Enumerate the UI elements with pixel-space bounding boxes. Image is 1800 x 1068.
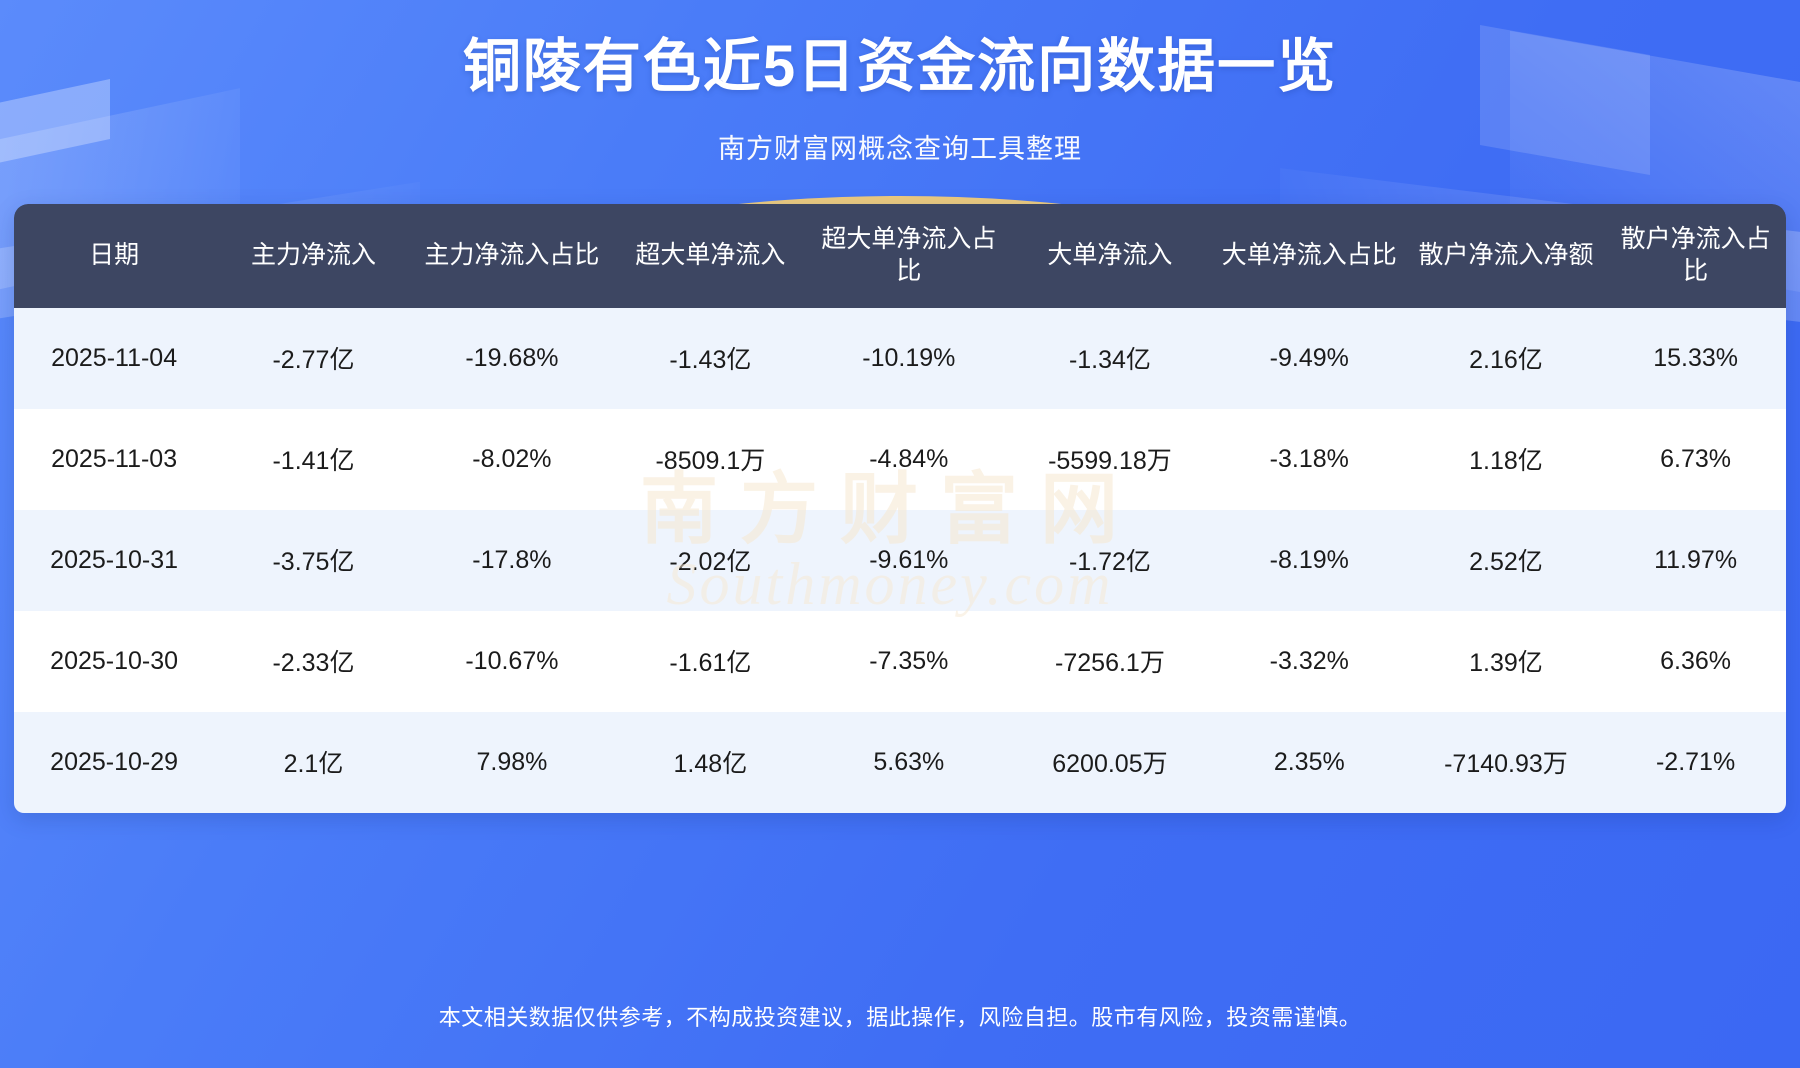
page-subtitle: 南方财富网概念查询工具整理 (0, 127, 1800, 166)
cell-retail-net: 1.18亿 (1407, 409, 1605, 510)
cell-xl-pct: -7.35% (810, 611, 1008, 712)
cell-lg-pct: 2.35% (1212, 712, 1407, 813)
cell-main-net: -2.77亿 (214, 308, 412, 409)
cell-retail-pct: -2.71% (1605, 712, 1786, 813)
cell-xl-net: -1.43亿 (611, 308, 809, 409)
cell-date: 2025-11-04 (14, 308, 214, 409)
table-header-row: 日期 主力净流入 主力净流入占比 超大单净流入 超大单净流入占比 大单净流入 大… (14, 204, 1786, 308)
cell-lg-pct: -9.49% (1212, 308, 1407, 409)
header: 铜陵有色近5日资金流向数据一览 南方财富网概念查询工具整理 (0, 0, 1800, 166)
cell-xl-pct: -10.19% (810, 308, 1008, 409)
cell-lg-net: -5599.18万 (1008, 409, 1212, 510)
cell-lg-net: 6200.05万 (1008, 712, 1212, 813)
cell-lg-pct: -8.19% (1212, 510, 1407, 611)
cell-retail-net: 1.39亿 (1407, 611, 1605, 712)
cell-date: 2025-10-31 (14, 510, 214, 611)
data-table-card: 日期 主力净流入 主力净流入占比 超大单净流入 超大单净流入占比 大单净流入 大… (14, 204, 1786, 813)
cell-lg-net: -1.34亿 (1008, 308, 1212, 409)
column-header-retail-pct: 散户净流入占比 (1605, 204, 1786, 308)
cell-retail-net: 2.52亿 (1407, 510, 1605, 611)
column-header-xl-net: 超大单净流入 (611, 204, 809, 308)
table-row: 2025-11-04 -2.77亿 -19.68% -1.43亿 -10.19%… (14, 308, 1786, 409)
cell-xl-net: 1.48亿 (611, 712, 809, 813)
table-row: 2025-10-31 -3.75亿 -17.8% -2.02亿 -9.61% -… (14, 510, 1786, 611)
cell-retail-net: 2.16亿 (1407, 308, 1605, 409)
column-header-lg-net: 大单净流入 (1008, 204, 1212, 308)
cell-retail-pct: 6.36% (1605, 611, 1786, 712)
cell-main-pct: 7.98% (413, 712, 611, 813)
cell-main-net: 2.1亿 (214, 712, 412, 813)
cell-lg-pct: -3.18% (1212, 409, 1407, 510)
cell-date: 2025-10-30 (14, 611, 214, 712)
cell-retail-pct: 15.33% (1605, 308, 1786, 409)
cell-main-net: -1.41亿 (214, 409, 412, 510)
cell-main-pct: -17.8% (413, 510, 611, 611)
cell-main-net: -3.75亿 (214, 510, 412, 611)
column-header-date: 日期 (14, 204, 214, 308)
cell-xl-pct: -4.84% (810, 409, 1008, 510)
column-header-main-net: 主力净流入 (214, 204, 412, 308)
page-title: 铜陵有色近5日资金流向数据一览 (0, 34, 1800, 101)
cell-xl-net: -8509.1万 (611, 409, 809, 510)
cell-main-pct: -10.67% (413, 611, 611, 712)
cell-retail-pct: 6.73% (1605, 409, 1786, 510)
cell-retail-net: -7140.93万 (1407, 712, 1605, 813)
table-row: 2025-10-30 -2.33亿 -10.67% -1.61亿 -7.35% … (14, 611, 1786, 712)
infographic-page: 铜陵有色近5日资金流向数据一览 南方财富网概念查询工具整理 日期 主力净流入 主… (0, 0, 1800, 1068)
cell-lg-net: -7256.1万 (1008, 611, 1212, 712)
cell-date: 2025-11-03 (14, 409, 214, 510)
cell-main-pct: -8.02% (413, 409, 611, 510)
cell-xl-pct: 5.63% (810, 712, 1008, 813)
table-row: 2025-10-29 2.1亿 7.98% 1.48亿 5.63% 6200.0… (14, 712, 1786, 813)
disclaimer-text: 本文相关数据仅供参考，不构成投资建议，据此操作，风险自担。股市有风险，投资需谨慎… (0, 1000, 1800, 1032)
cell-lg-pct: -3.32% (1212, 611, 1407, 712)
cell-main-pct: -19.68% (413, 308, 611, 409)
fund-flow-table: 日期 主力净流入 主力净流入占比 超大单净流入 超大单净流入占比 大单净流入 大… (14, 204, 1786, 813)
cell-lg-net: -1.72亿 (1008, 510, 1212, 611)
table-row: 2025-11-03 -1.41亿 -8.02% -8509.1万 -4.84%… (14, 409, 1786, 510)
cell-xl-net: -1.61亿 (611, 611, 809, 712)
column-header-main-pct: 主力净流入占比 (413, 204, 611, 308)
column-header-retail-net: 散户净流入净额 (1407, 204, 1605, 308)
column-header-lg-pct: 大单净流入占比 (1212, 204, 1407, 308)
cell-retail-pct: 11.97% (1605, 510, 1786, 611)
cell-xl-pct: -9.61% (810, 510, 1008, 611)
cell-main-net: -2.33亿 (214, 611, 412, 712)
column-header-xl-pct: 超大单净流入占比 (810, 204, 1008, 308)
cell-xl-net: -2.02亿 (611, 510, 809, 611)
cell-date: 2025-10-29 (14, 712, 214, 813)
